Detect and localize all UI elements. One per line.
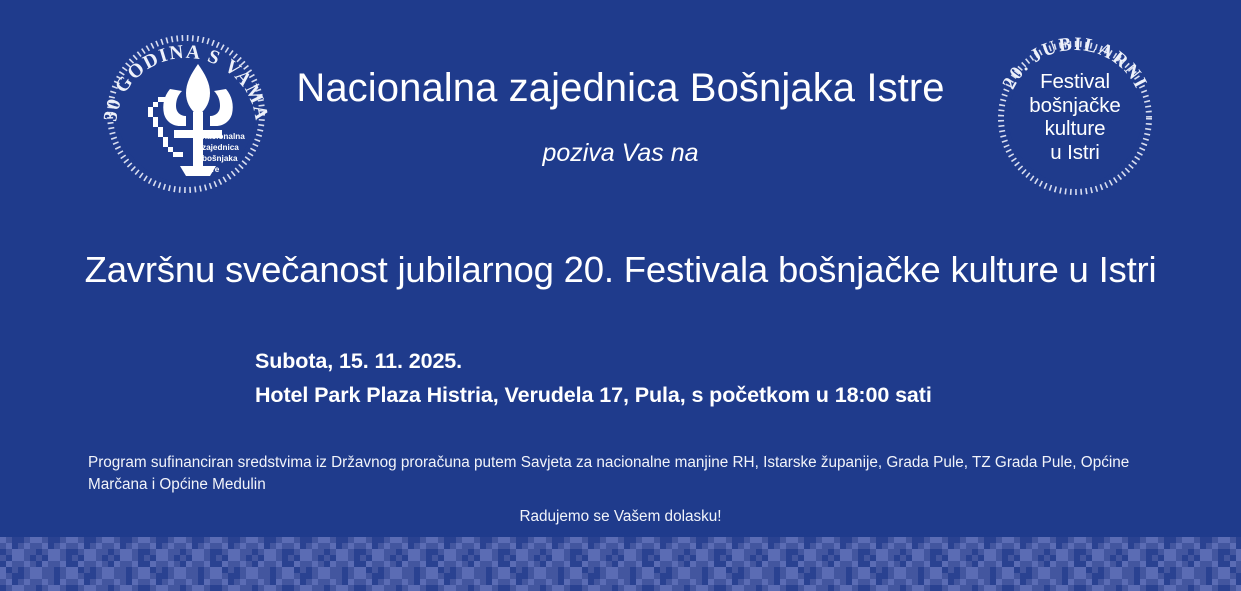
- event-details: Subota, 15. 11. 2025. Hotel Park Plaza H…: [255, 344, 932, 412]
- closing-line: Radujemo se Vašem dolasku!: [0, 508, 1241, 526]
- nacionalna-zajednica-bosnjaka-istre-logo: 30 GODINA S VAMA: [98, 26, 274, 198]
- event-date: Subota, 15. 11. 2025.: [255, 344, 932, 378]
- festival-line-3: kulture: [993, 117, 1157, 141]
- invitation-poster: 30 GODINA S VAMA: [0, 0, 1241, 591]
- funding-note: Program sufinanciran sredstvima iz Držav…: [88, 452, 1163, 496]
- organization-name: Nacionalna zajednica Bošnjaka Istre: [0, 66, 1241, 111]
- invitation-line: poziva Vas na: [0, 139, 1241, 168]
- event-headline: Završnu svečanost jubilarnog 20. Festiva…: [0, 249, 1241, 291]
- festival-bosnjacke-kulture-logo: 20. JUBILARNI Festival bošnjačke kulture…: [993, 26, 1157, 196]
- event-venue: Hotel Park Plaza Histria, Verudela 17, P…: [255, 378, 932, 412]
- decorative-bottom-border: [0, 537, 1241, 591]
